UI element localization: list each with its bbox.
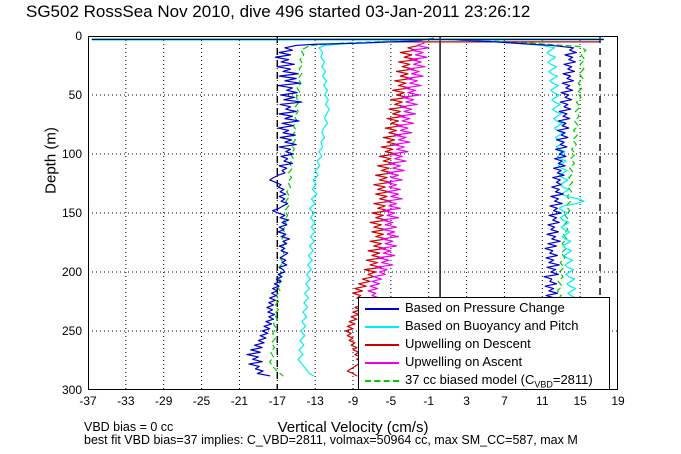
legend-swatch-line [365, 326, 399, 328]
x-tick-label: -33 [106, 394, 146, 408]
x-tick-label: 15 [560, 394, 600, 408]
legend-item[interactable]: Upwelling on Descent [359, 336, 609, 354]
y-tick-label: 250 [36, 324, 82, 338]
y-tick-label: 150 [36, 206, 82, 220]
y-tick-label: 50 [36, 88, 82, 102]
x-tick-label: -1 [409, 394, 449, 408]
y-tick-label: 100 [36, 147, 82, 161]
note-best-fit: best fit VBD bias=37 implies: C_VBD=2811… [84, 433, 578, 447]
y-tick-label: 200 [36, 265, 82, 279]
note-vbd-bias: VBD bias = 0 cc [84, 420, 173, 434]
x-tick-label: -9 [333, 394, 373, 408]
y-tick-label: 0 [36, 29, 82, 43]
legend-item[interactable]: Upwelling on Ascent [359, 354, 609, 372]
legend-item-label: Upwelling on Ascent [405, 354, 522, 369]
page-title: SG502 RossSea Nov 2010, dive 496 started… [26, 2, 530, 22]
x-tick-label: -13 [295, 394, 335, 408]
x-tick-label: 19 [598, 394, 638, 408]
legend-item[interactable]: 37 cc biased model (CVBD=2811) [359, 372, 609, 390]
legend-item-label: Based on Pressure Change [405, 300, 565, 315]
x-tick-label: 11 [522, 394, 562, 408]
x-tick-label: -17 [257, 394, 297, 408]
legend[interactable]: Based on Pressure ChangeBased on Buoyanc… [358, 297, 610, 390]
legend-swatch-line [365, 380, 399, 382]
legend-swatch-line [365, 362, 399, 364]
x-tick-label: -5 [371, 394, 411, 408]
legend-item-label: 37 cc biased model (CVBD=2811) [405, 372, 593, 390]
figure-root: SG502 RossSea Nov 2010, dive 496 started… [0, 0, 681, 454]
x-tick-label: -29 [144, 394, 184, 408]
legend-swatch-line [365, 308, 399, 310]
x-tick-label: -25 [182, 394, 222, 408]
x-tick-label: 3 [447, 394, 487, 408]
x-tick-label: -21 [219, 394, 259, 408]
x-tick-label: 7 [484, 394, 524, 408]
legend-item-label: Based on Buoyancy and Pitch [405, 318, 578, 333]
x-tick-label: -37 [68, 394, 108, 408]
legend-item[interactable]: Based on Buoyancy and Pitch [359, 318, 609, 336]
legend-item[interactable]: Based on Pressure Change [359, 300, 609, 318]
legend-swatch-line [365, 344, 399, 346]
legend-item-label: Upwelling on Descent [405, 336, 531, 351]
